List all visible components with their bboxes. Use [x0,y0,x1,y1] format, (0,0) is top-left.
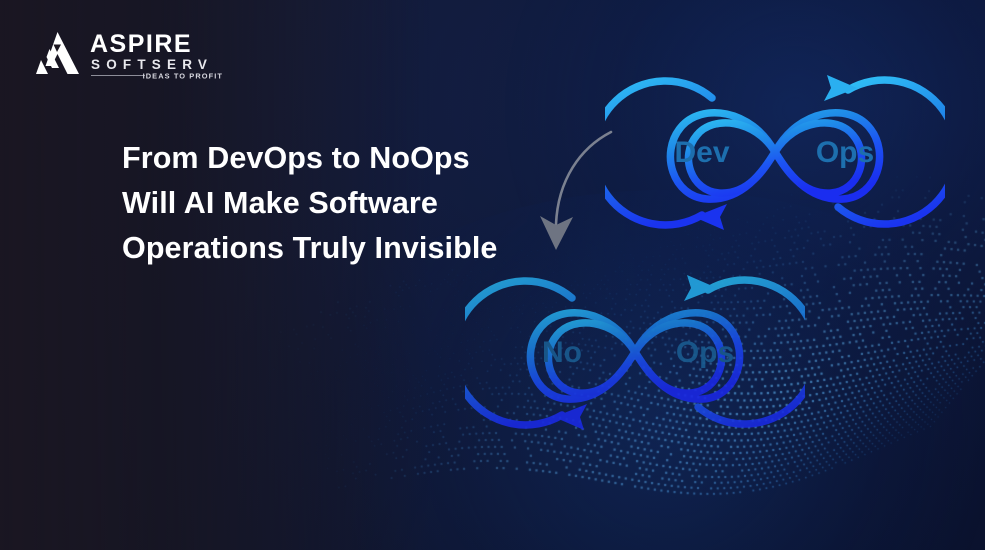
transition-arrow-curve [556,132,611,224]
aspire-softserv-logo[interactable]: ASPIRE SOFTSERV IDEAS TO PROFIT [27,27,227,83]
page-title: From DevOps to NoOps Will AI Make Softwa… [122,136,552,271]
noops-infinity-figure: No Ops [465,255,805,450]
noops-arrow-right-head [684,275,717,301]
devops-left-label: Dev [674,136,729,169]
noops-right-label: Ops [676,336,734,369]
headline-line-1: From DevOps to NoOps [122,136,552,181]
headline-line-2: Will AI Make Software [122,181,552,226]
logo-wordmark-top: ASPIRE [90,30,192,58]
noops-left-label: No [542,336,582,369]
logo-tagline: IDEAS TO PROFIT [143,72,223,81]
devops-arrow-left-head [694,204,727,230]
transition-arrow [528,118,648,273]
devops-right-label: Ops [816,136,874,169]
devops-arrow-right-head [824,75,857,101]
devops-infinity-figure: Dev Ops [605,55,945,250]
hero-banner: ASPIRE SOFTSERV IDEAS TO PROFIT From Dev… [0,0,985,550]
logo-mountain-icon [36,32,79,74]
logo-wordmark-bottom: SOFTSERV [91,57,213,72]
noops-arrow-left-head [554,404,587,430]
